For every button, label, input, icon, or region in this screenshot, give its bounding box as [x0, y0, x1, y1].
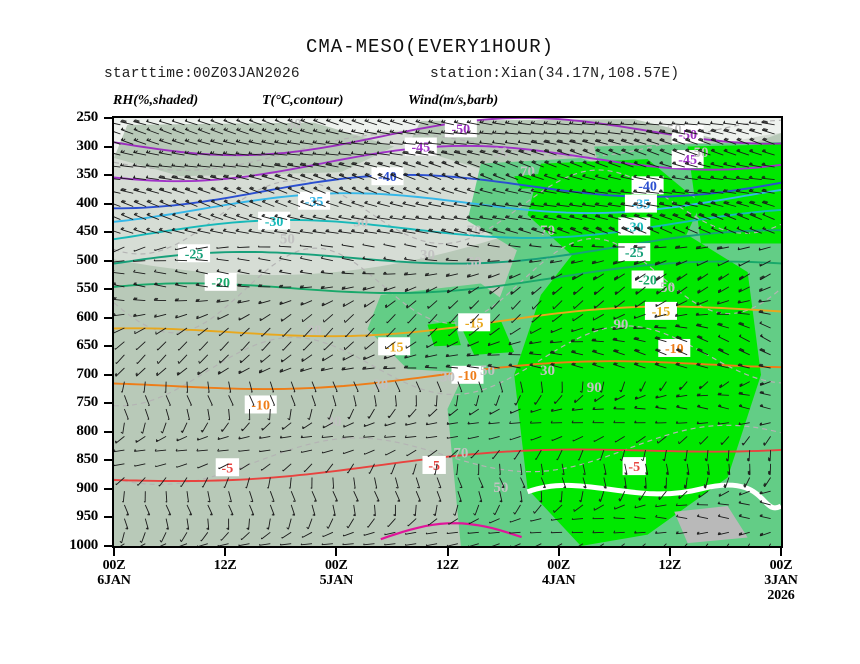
- x-tick-time: 00Z: [69, 558, 159, 573]
- x-axis-tick-label: 12Z: [625, 558, 715, 573]
- rh-contour-label: 50: [493, 480, 508, 496]
- y-axis-tick-label: 500: [36, 252, 98, 269]
- chart-canvas: CMA-MESO(EVERY1HOUR) starttime:00Z03JAN2…: [0, 0, 860, 664]
- y-axis-tick: [104, 146, 112, 148]
- x-tick-time: 12Z: [180, 558, 270, 573]
- y-axis-tick: [104, 374, 112, 376]
- station-label: station:Xian(34.17N,108.57E): [430, 66, 679, 82]
- x-axis-tick-label: 00Z4JAN: [514, 558, 604, 588]
- rh-contour-label: 50: [467, 254, 482, 270]
- temperature-contour-label: -5: [222, 461, 234, 476]
- temperature-contour-label: -5: [428, 459, 440, 474]
- y-axis-tick-label: 650: [36, 337, 98, 354]
- y-axis-tick: [104, 317, 112, 319]
- x-axis-tick: [780, 548, 782, 556]
- temperature-contour-label: -20: [211, 276, 230, 291]
- x-tick-time: 00Z: [736, 558, 826, 573]
- temperature-contour-label: -30: [265, 215, 284, 230]
- y-axis-tick: [104, 545, 112, 547]
- x-axis-tick: [335, 548, 337, 556]
- page-title: CMA-MESO(EVERY1HOUR): [0, 36, 860, 58]
- temperature-contour-label: -5: [628, 460, 640, 475]
- x-tick-time: 12Z: [625, 558, 715, 573]
- y-axis-tick-label: 250: [36, 109, 98, 126]
- x-tick-time: 12Z: [403, 558, 493, 573]
- y-axis-tick-label: 1000: [36, 537, 98, 554]
- starttime-label: starttime:00Z03JAN2026: [104, 66, 300, 82]
- x-axis-tick-label: 00Z5JAN: [291, 558, 381, 588]
- rh-contour-label: 90: [613, 317, 628, 333]
- x-axis-tick-label: 00Z3JAN2026: [736, 558, 826, 603]
- temperature-contour-label: -15: [652, 305, 671, 320]
- temperature-contour-label: -20: [638, 274, 657, 289]
- y-axis-tick: [104, 459, 112, 461]
- rh-contour-label: 30: [327, 414, 342, 430]
- y-axis-tick-label: 850: [36, 451, 98, 468]
- x-tick-date: 5JAN: [291, 573, 381, 588]
- y-axis-tick: [104, 288, 112, 290]
- y-axis-tick-label: 750: [36, 394, 98, 411]
- rh-contour-label: 70: [520, 164, 535, 180]
- x-axis-tick: [224, 548, 226, 556]
- y-axis-tick-label: 700: [36, 366, 98, 383]
- x-axis-tick: [669, 548, 671, 556]
- y-axis-tick: [104, 174, 112, 176]
- temperature-contour-label: -50: [452, 122, 471, 137]
- x-axis-tick: [447, 548, 449, 556]
- temperature-contour-label: -10: [665, 342, 684, 357]
- x-axis-tick: [558, 548, 560, 556]
- rh-contour-label: 50: [660, 280, 675, 296]
- x-axis-tick: [113, 548, 115, 556]
- rh-contour-label: 30: [373, 377, 388, 393]
- temperature-contour-label: -40: [378, 170, 397, 185]
- x-axis-tick-label: 12Z: [403, 558, 493, 573]
- y-axis-tick-label: 350: [36, 166, 98, 183]
- y-axis-tick-label: 800: [36, 423, 98, 440]
- legend-wind: Wind(m/s,barb): [408, 93, 498, 109]
- rh-contour-label: 90: [587, 380, 602, 396]
- y-axis-tick-label: 900: [36, 480, 98, 497]
- y-axis-tick: [104, 516, 112, 518]
- y-axis-tick-label: 450: [36, 223, 98, 240]
- temperature-contour-label: -25: [625, 246, 644, 261]
- y-axis-tick: [104, 260, 112, 262]
- y-axis-tick: [104, 488, 112, 490]
- x-tick-date: 4JAN: [514, 573, 604, 588]
- rh-contour-label: 50: [280, 232, 295, 248]
- plot-area: -50-50-45-45-40-40-35-35-30-30-25-25-20-…: [112, 116, 783, 548]
- y-axis-tick: [104, 231, 112, 233]
- x-tick-date: 3JAN: [736, 573, 826, 588]
- x-axis-tick-label: 12Z: [180, 558, 270, 573]
- y-axis-tick: [104, 117, 112, 119]
- x-tick-time: 00Z: [514, 558, 604, 573]
- subtitle-row: starttime:00Z03JAN2026 station:Xian(34.1…: [0, 66, 860, 86]
- y-axis-tick: [104, 402, 112, 404]
- rh-contour-label: 30: [420, 248, 435, 264]
- y-axis-tick: [104, 345, 112, 347]
- y-axis-tick-label: 600: [36, 309, 98, 326]
- y-axis-tick-label: 550: [36, 280, 98, 297]
- y-axis-tick: [104, 203, 112, 205]
- x-tick-year: 2026: [736, 588, 826, 603]
- variable-legend: RH(%,shaded) T(°C,contour) Wind(m/s,barb…: [0, 93, 860, 111]
- x-tick-time: 00Z: [291, 558, 381, 573]
- rh-contour-label: 30: [440, 370, 455, 386]
- rh-contour-label: 70: [540, 223, 555, 239]
- cross-section-svg: -50-50-45-45-40-40-35-35-30-30-25-25-20-…: [114, 118, 781, 546]
- x-axis-tick-label: 00Z6JAN: [69, 558, 159, 588]
- y-axis-tick-label: 300: [36, 138, 98, 155]
- rh-contour-label: 50: [480, 363, 495, 379]
- y-axis-tick: [104, 431, 112, 433]
- legend-temperature: T(°C,contour): [262, 93, 343, 109]
- temperature-contour-label: -15: [465, 316, 484, 331]
- temperature-contour-label: -35: [632, 198, 651, 213]
- rh-contour-label: 50: [693, 145, 708, 161]
- y-axis-tick-label: 950: [36, 508, 98, 525]
- y-axis-tick-label: 400: [36, 195, 98, 212]
- legend-rh: RH(%,shaded): [113, 93, 198, 109]
- rh-contour-label: 70: [453, 446, 468, 462]
- temperature-contour-label: -10: [251, 399, 270, 414]
- temperature-contour-label: -10: [458, 369, 477, 384]
- x-tick-date: 6JAN: [69, 573, 159, 588]
